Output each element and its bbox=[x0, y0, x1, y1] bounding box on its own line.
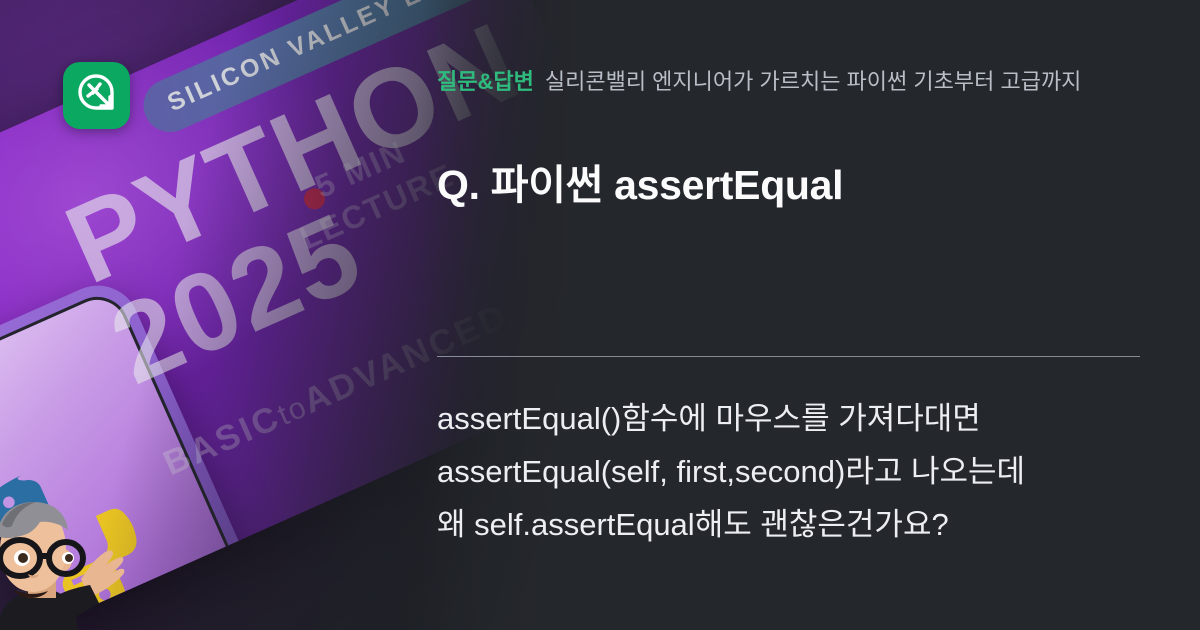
question-line: assertEqual(self, first,second)라고 나오는데 bbox=[437, 445, 1157, 498]
question-line: assertEqual()함수에 마우스를 가져다대면 bbox=[437, 392, 1157, 445]
og-card: SILICON VALLEY ENGINEER PYTHON 2025 5 MI… bbox=[0, 0, 1200, 630]
site-logo[interactable] bbox=[63, 62, 130, 129]
question-body: assertEqual()함수에 마우스를 가져다대면 assertEqual(… bbox=[437, 392, 1157, 551]
instructor-avatar-icon bbox=[0, 498, 144, 630]
eyebrow-subtitle: 실리콘밸리 엔지니어가 가르치는 파이썬 기초부터 고급까지 bbox=[545, 69, 1082, 94]
page-title: Q. 파이썬 assertEqual bbox=[437, 151, 843, 211]
eyebrow: 질문&답변실리콘밸리 엔지니어가 가르치는 파이썬 기초부터 고급까지 bbox=[437, 64, 1081, 96]
category-tag: 질문&답변 bbox=[437, 69, 534, 94]
divider bbox=[437, 356, 1140, 357]
leaf-arrow-icon bbox=[76, 72, 118, 119]
question-line: 왜 self.assertEqual해도 괜찮은건가요? bbox=[437, 498, 1157, 551]
